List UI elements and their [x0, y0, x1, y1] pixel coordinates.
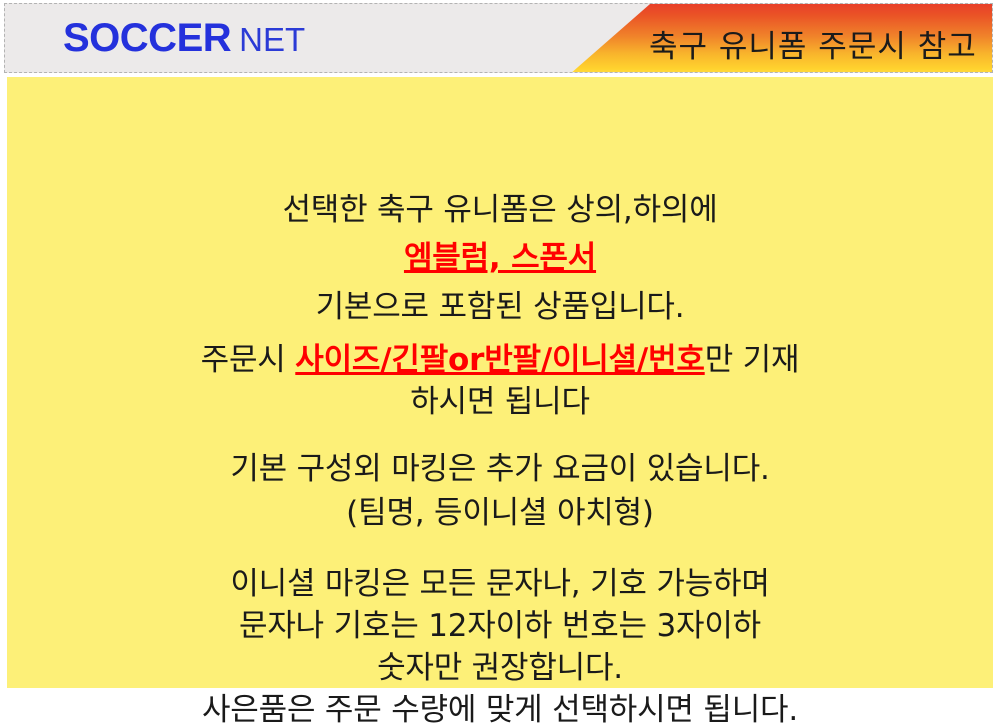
notice-line-6: 기본 구성외 마킹은 추가 요금이 있습니다. [7, 454, 993, 485]
notice-line-5: 하시면 됩니다 [7, 387, 993, 418]
notice-line-3: 기본으로 포함된 상품입니다. [7, 292, 993, 323]
notice-line-11: 사은품은 주문 수량에 맞게 선택하시면 됩니다. [7, 695, 993, 726]
notice-page: SOCCERNET 축구 유니폼 주문시 참고 선택한 축구 유니폼은 상의,하… [0, 0, 1000, 695]
header-plate: SOCCERNET 축구 유니폼 주문시 참고 [4, 3, 993, 73]
notice-line-2-highlight: 엠블럼, 스폰서 [7, 243, 993, 274]
notice-banner-title: 축구 유니폼 주문시 참고 [649, 21, 977, 66]
notice-line-4: 주문시 사이즈/긴팔or반팔/이니셜/번호만 기재 [7, 345, 993, 376]
notice-body: 선택한 축구 유니폼은 상의,하의에 엠블럼, 스폰서 기본으로 포함된 상품입… [7, 77, 993, 688]
notice-line-10: 숫자만 권장합니다. [7, 653, 993, 684]
brand-logo-primary: SOCCER [63, 16, 231, 60]
brand-logo-secondary: NET [239, 21, 305, 58]
notice-line-1: 선택한 축구 유니폼은 상의,하의에 [7, 195, 993, 226]
notice-line-9: 문자나 기호는 12자이하 번호는 3자이하 [7, 611, 993, 642]
notice-banner: 축구 유니폼 주문시 참고 [562, 4, 992, 73]
notice-line-7: (팀명, 등이니셜 아치형) [7, 498, 993, 529]
notice-line-4-suffix: 만 기재 [705, 342, 800, 378]
notice-line-4-prefix: 주문시 [201, 342, 296, 378]
page-header: SOCCERNET 축구 유니폼 주문시 참고 [0, 0, 1000, 77]
notice-line-4-emphasis: 사이즈/긴팔or반팔/이니셜/번호 [295, 342, 704, 378]
notice-line-8: 이니셜 마킹은 모든 문자나, 기호 가능하며 [7, 569, 993, 600]
brand-logo[interactable]: SOCCERNET [63, 18, 305, 58]
